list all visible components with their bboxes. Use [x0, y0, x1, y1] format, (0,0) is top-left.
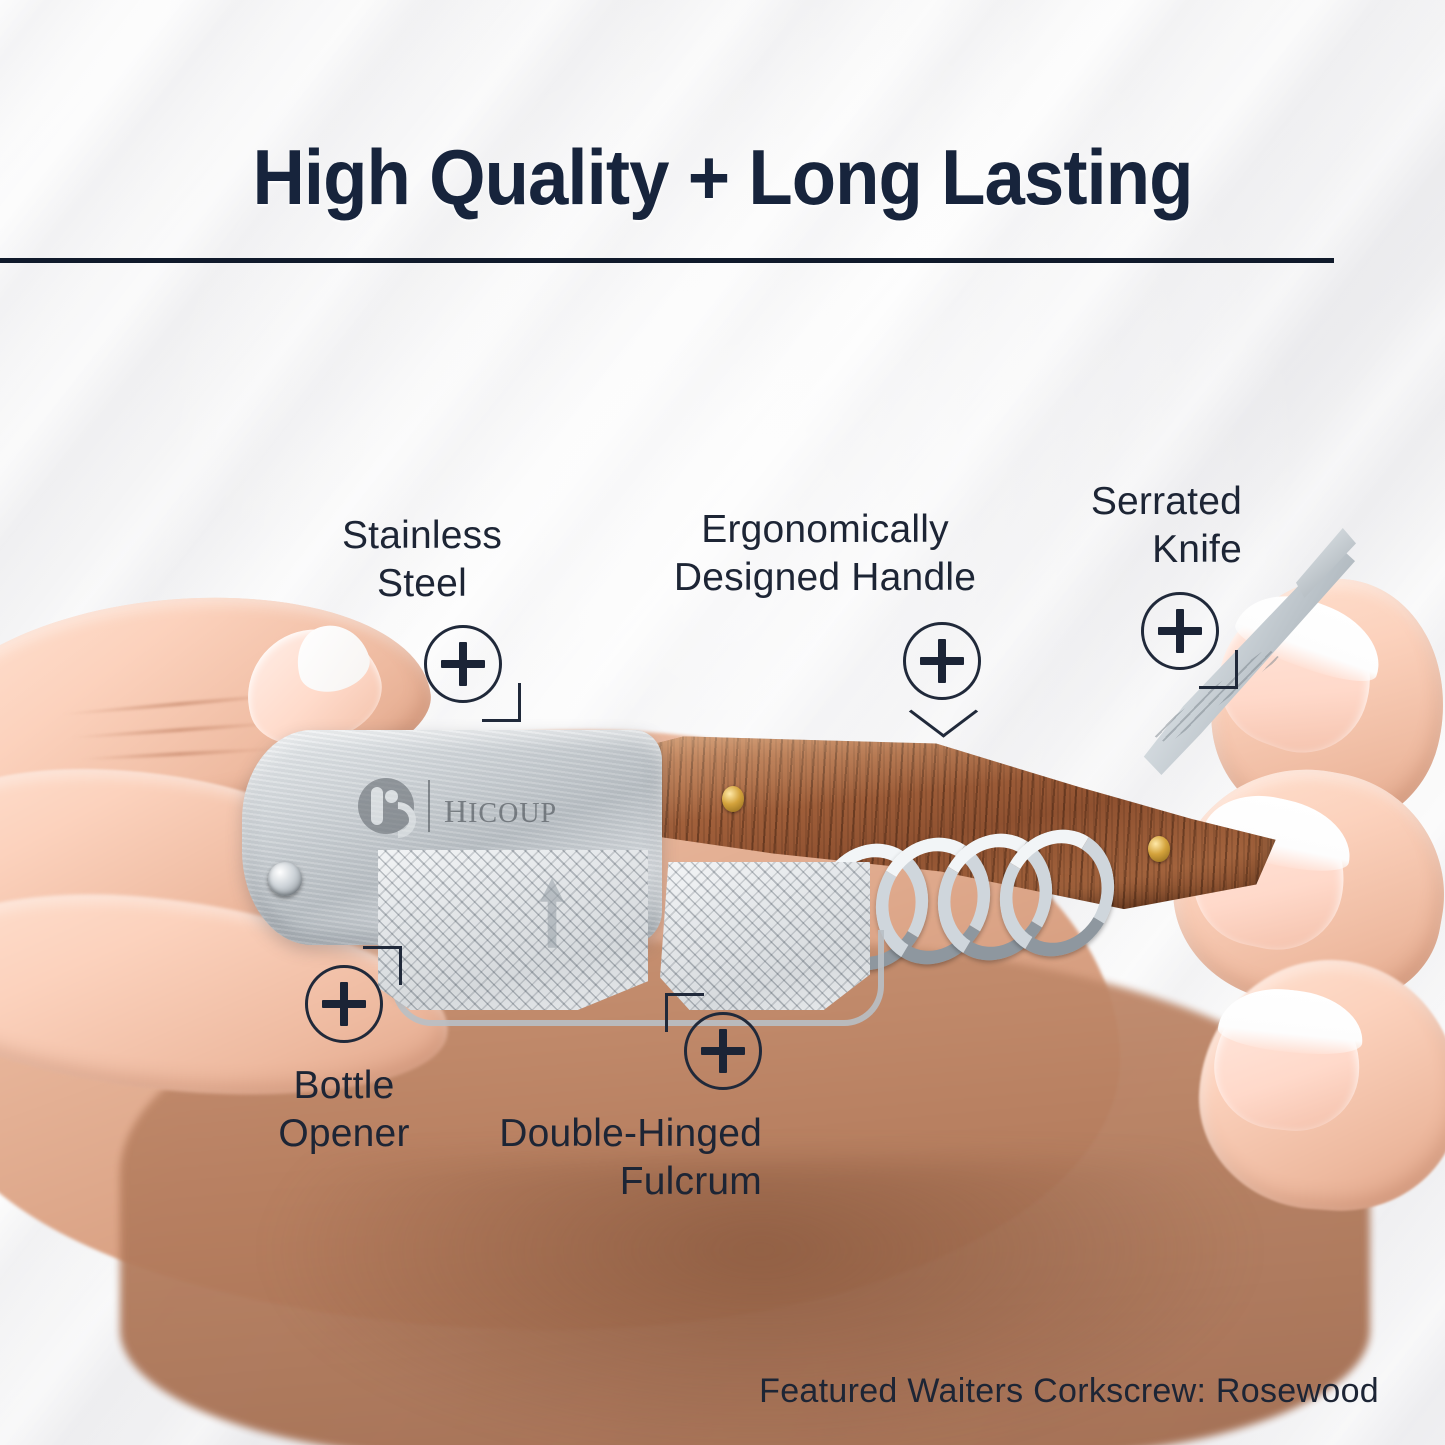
feature-label-serrated-knife: Serrated Knife [1032, 478, 1242, 573]
brand-name: HiCoup [444, 780, 557, 833]
feature-label-bottle-opener: Bottle Opener [244, 1062, 444, 1157]
footer-caption: Featured Waiters Corkscrew: Rosewood [759, 1372, 1379, 1411]
feature-label-ergonomic-handle: Ergonomically Designed Handle [655, 506, 995, 601]
product-infographic: HiCoup High Quality + Long Lasting Stain… [0, 0, 1445, 1445]
feature-marker-bottle-opener[interactable] [305, 965, 383, 1043]
pivot-screw [268, 862, 302, 896]
plus-icon [441, 642, 485, 686]
marker-tail-top-right [363, 946, 402, 985]
lever-crosshatch-texture [378, 850, 648, 1010]
feature-marker-stainless-steel[interactable] [424, 625, 502, 703]
brass-rivet [722, 786, 744, 812]
feature-label-stainless-steel: Stainless Steel [322, 512, 522, 607]
plus-icon [1158, 609, 1202, 653]
fulcrum-lever-primary [378, 850, 648, 1010]
marker-tail-bottom-right [1199, 650, 1238, 689]
plus-icon [920, 639, 964, 683]
marker-tail-top-left [665, 993, 704, 1032]
lever-crosshatch-texture [660, 862, 870, 1010]
plus-icon [701, 1029, 745, 1073]
marker-tail-bottom-right [482, 683, 521, 722]
fulcrum-lever-secondary [660, 862, 870, 1010]
marker-tail-pin-down [916, 690, 968, 742]
page-title: High Quality + Long Lasting [51, 132, 1395, 223]
plus-icon [322, 982, 366, 1026]
hicoup-logo: HiCoup [358, 778, 557, 834]
feature-marker-double-hinged-fulcrum[interactable] [684, 1012, 762, 1090]
hicoup-circle-h-icon [358, 778, 414, 834]
feature-marker-ergonomic-handle[interactable] [903, 622, 981, 700]
feature-label-double-hinged-fulcrum: Double-Hinged Fulcrum [462, 1110, 762, 1205]
logo-divider [428, 780, 430, 832]
brass-rivet [1148, 836, 1170, 862]
feature-marker-serrated-knife[interactable] [1141, 592, 1219, 670]
title-divider [0, 258, 1334, 263]
